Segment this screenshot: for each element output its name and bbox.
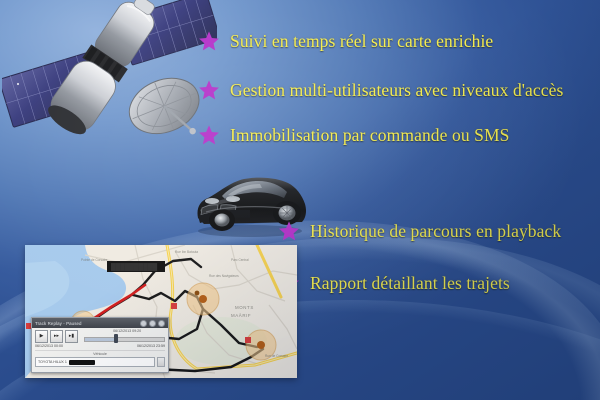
svg-text:██████████: ██████████ <box>111 263 157 271</box>
vehicle-name: TOYOTA HILUX 1 <box>38 360 67 364</box>
end-time-label: 06/12/2013 23:59 <box>137 344 165 348</box>
stop-marker-3 <box>187 283 219 315</box>
star-icon <box>198 79 220 101</box>
vehicle-select-caption: Véhicule <box>35 352 165 356</box>
satellite-illustration <box>2 0 217 166</box>
star-icon <box>198 30 220 52</box>
poi-marker <box>245 337 251 343</box>
list-scrollbar[interactable] <box>157 357 165 367</box>
redacted-map-label: ██████████ <box>107 261 165 272</box>
map-label: Rue Ibn Batouta <box>175 250 198 254</box>
time-range-row: 06/12/2013 00:00 06/12/2013 23:59 <box>35 344 165 348</box>
map-label: MONTS <box>235 305 254 310</box>
window-buttons <box>140 320 165 327</box>
map-label: Rue des Navigateurs <box>209 274 239 278</box>
star-icon <box>198 124 220 146</box>
step-button[interactable]: ▸▸ <box>50 330 63 343</box>
current-time-label: 06/12/2013 09:20 <box>113 329 141 333</box>
replay-titlebar[interactable]: Track Replay - Paused <box>32 318 168 328</box>
map-label: Pointe de Corsaire <box>81 258 108 262</box>
vehicle-select-row: TOYOTA HILUX 1 <box>35 357 165 367</box>
replay-body: ▶ ▸▸ ▸▮ 06/12/2013 09:20 06/12/2013 00:0… <box>32 328 168 367</box>
feature-label: Rapport détaillant les trajets <box>310 273 510 294</box>
redacted-vehicle-id <box>69 360 95 365</box>
feature-item-playback-history: Historique de parcours en playback <box>278 220 561 242</box>
feature-label: Gestion multi-utilisateurs avec niveaux … <box>230 80 563 101</box>
play-button[interactable]: ▶ <box>35 330 48 343</box>
map-playback-screenshot[interactable]: Pointe de Corsaire Rue Ibn Batouta Rue d… <box>25 245 297 378</box>
vehicle-select[interactable]: TOYOTA HILUX 1 <box>35 357 155 367</box>
playback-controls: ▶ ▸▸ ▸▮ 06/12/2013 09:20 <box>35 330 165 343</box>
feature-item-trip-report: Rapport détaillant les trajets <box>278 272 510 294</box>
timeline-handle[interactable] <box>114 334 118 343</box>
panel-divider <box>35 350 165 351</box>
feature-label: Suivi en temps réel sur carte enrichie <box>230 31 493 52</box>
feature-item-multi-user: Gestion multi-utilisateurs avec niveaux … <box>198 79 563 101</box>
maximize-button[interactable] <box>149 320 156 327</box>
start-time-label: 06/12/2013 00:00 <box>35 344 63 348</box>
track-replay-panel[interactable]: Track Replay - Paused ▶ ▸▸ ▸▮ 06/12/2013… <box>31 317 169 373</box>
map-label: MAÂRIF <box>231 313 251 318</box>
feature-label: Historique de parcours en playback <box>310 221 561 242</box>
map-label: Rue de Corsaire <box>265 354 288 358</box>
feature-item-immobilization: Immobilisation par commande ou SMS <box>198 124 510 146</box>
poi-marker <box>171 303 177 309</box>
poster-canvas: Suivi en temps réel sur carte enrichie G… <box>0 0 600 400</box>
close-button[interactable] <box>158 320 165 327</box>
skip-to-end-button[interactable]: ▸▮ <box>65 330 78 343</box>
map-label: Parc Central <box>231 258 249 262</box>
replay-title: Track Replay - Paused <box>35 321 82 326</box>
feature-label: Immobilisation par commande ou SMS <box>230 125 510 146</box>
star-icon <box>278 220 300 242</box>
timeline-fill <box>85 338 117 341</box>
minimize-button[interactable] <box>140 320 147 327</box>
timeline-track[interactable] <box>84 337 165 342</box>
timeline-slider[interactable]: 06/12/2013 09:20 <box>84 331 165 342</box>
feature-item-realtime-tracking: Suivi en temps réel sur carte enrichie <box>198 30 493 52</box>
